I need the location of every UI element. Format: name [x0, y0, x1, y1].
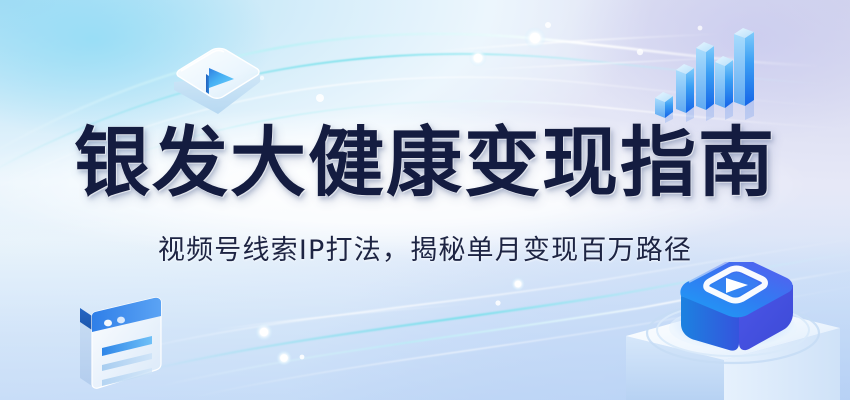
page-title: 银发大健康变现指南 [0, 125, 850, 201]
page-subtitle-wrap: 视频号线索IP打法，揭秘单月变现百万路径 [0, 228, 850, 267]
chart-bar [696, 42, 714, 110]
page-title-wrap: 银发大健康变现指南 [0, 125, 850, 201]
window-dot [117, 317, 125, 324]
document-card [62, 286, 178, 400]
app-icon-pedestal [596, 262, 850, 400]
window-dot [104, 320, 112, 327]
chart-bar [676, 64, 694, 113]
promo-banner: 银发大健康变现指南 视频号线索IP打法，揭秘单月变现百万路径 [0, 0, 850, 400]
chart-bar [715, 56, 733, 108]
page-subtitle: 视频号线索IP打法，揭秘单月变现百万路径 [0, 228, 850, 267]
play-button-card [168, 38, 264, 124]
chart-bar [734, 28, 754, 106]
bar-chart-3d [652, 24, 760, 124]
